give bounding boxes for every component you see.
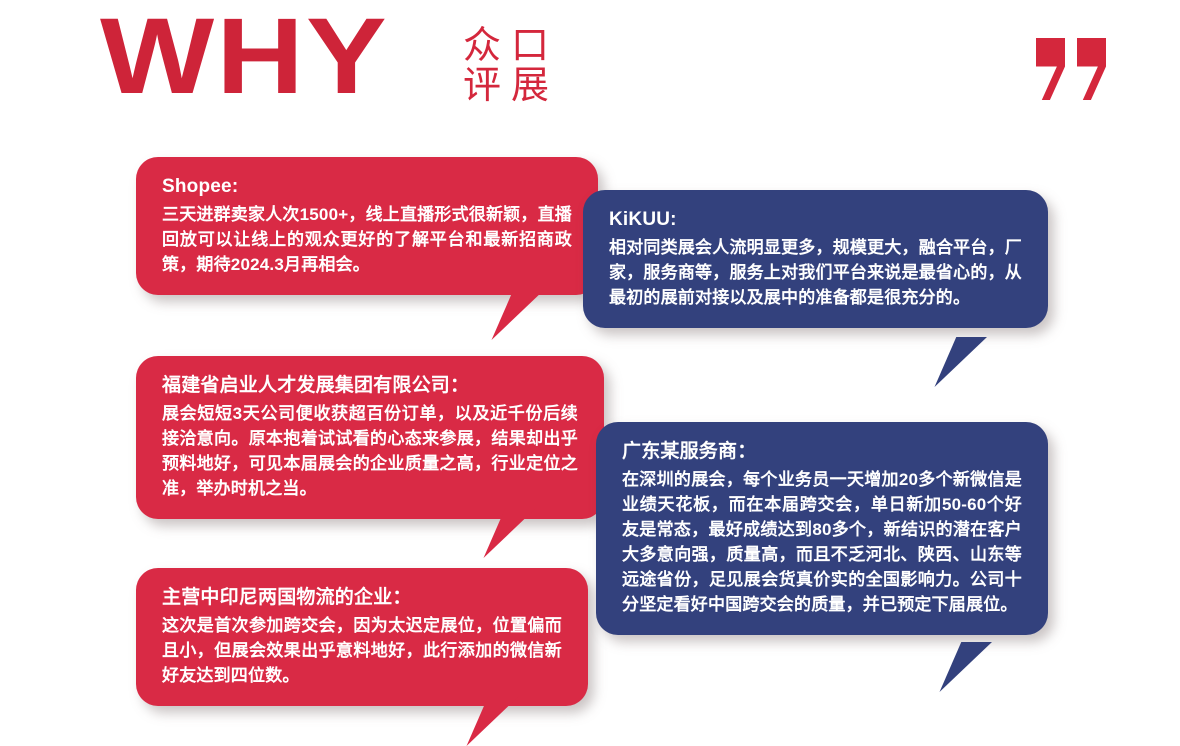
quote-stroke-right (1077, 38, 1106, 100)
testimonial-card-shopee: Shopee: 三天进群卖家人次1500+，线上直播形式很新颖，直播回放可以让线… (136, 157, 598, 295)
testimonial-body: 展会短短3天公司便收获超百份订单，以及近千份后续接洽意向。原本抱着试试看的心态来… (162, 401, 578, 501)
testimonial-body: 三天进群卖家人次1500+，线上直播形式很新颖，直播回放可以让线上的观众更好的了… (162, 202, 572, 277)
bubble-tail-guangdong (928, 642, 992, 692)
subtitle-char-4: 展 (506, 66, 554, 106)
testimonial-body: 相对同类展会人流明显更多，规模更大，融合平台，厂家，服务商等，服务上对我们平台来… (609, 235, 1022, 310)
testimonial-title: 广东某服务商： (622, 438, 1022, 465)
bubble-tail-kikuu (923, 337, 987, 387)
testimonial-card-logistics: 主营中印尼两国物流的企业： 这次是首次参加跨交会，因为太迟定展位，位置偏而且小，… (136, 568, 588, 706)
why-wordmark: WHY (100, 2, 389, 110)
subtitle-char-3: 评 (458, 66, 506, 106)
quote-stroke-left (1036, 38, 1065, 100)
page-header: WHY 众 口 评 展 (0, 0, 1180, 130)
testimonial-card-fujian: 福建省启业人才发展集团有限公司： 展会短短3天公司便收获超百份订单，以及近千份后… (136, 356, 604, 519)
testimonial-title: 福建省启业人才发展集团有限公司： (162, 372, 578, 399)
bubble-tail-shopee (480, 290, 544, 340)
testimonial-title: KiKUU: (609, 206, 1022, 233)
quote-mark-icon (1036, 38, 1112, 100)
subtitle-char-2: 口 (506, 26, 554, 66)
chinese-subtitle: 众 口 评 展 (458, 26, 554, 106)
testimonial-card-guangdong: 广东某服务商： 在深圳的展会，每个业务员一天增加20多个新微信是业绩天花板，而在… (596, 422, 1048, 635)
subtitle-char-1: 众 (458, 26, 506, 66)
testimonial-body: 这次是首次参加跨交会，因为太迟定展位，位置偏而且小，但展会效果出乎意料地好，此行… (162, 613, 562, 688)
testimonial-title: 主营中印尼两国物流的企业： (162, 584, 562, 611)
testimonial-card-kikuu: KiKUU: 相对同类展会人流明显更多，规模更大，融合平台，厂家，服务商等，服务… (583, 190, 1048, 328)
testimonial-body: 在深圳的展会，每个业务员一天增加20多个新微信是业绩天花板，而在本届跨交会，单日… (622, 467, 1022, 617)
testimonial-title: Shopee: (162, 173, 572, 200)
